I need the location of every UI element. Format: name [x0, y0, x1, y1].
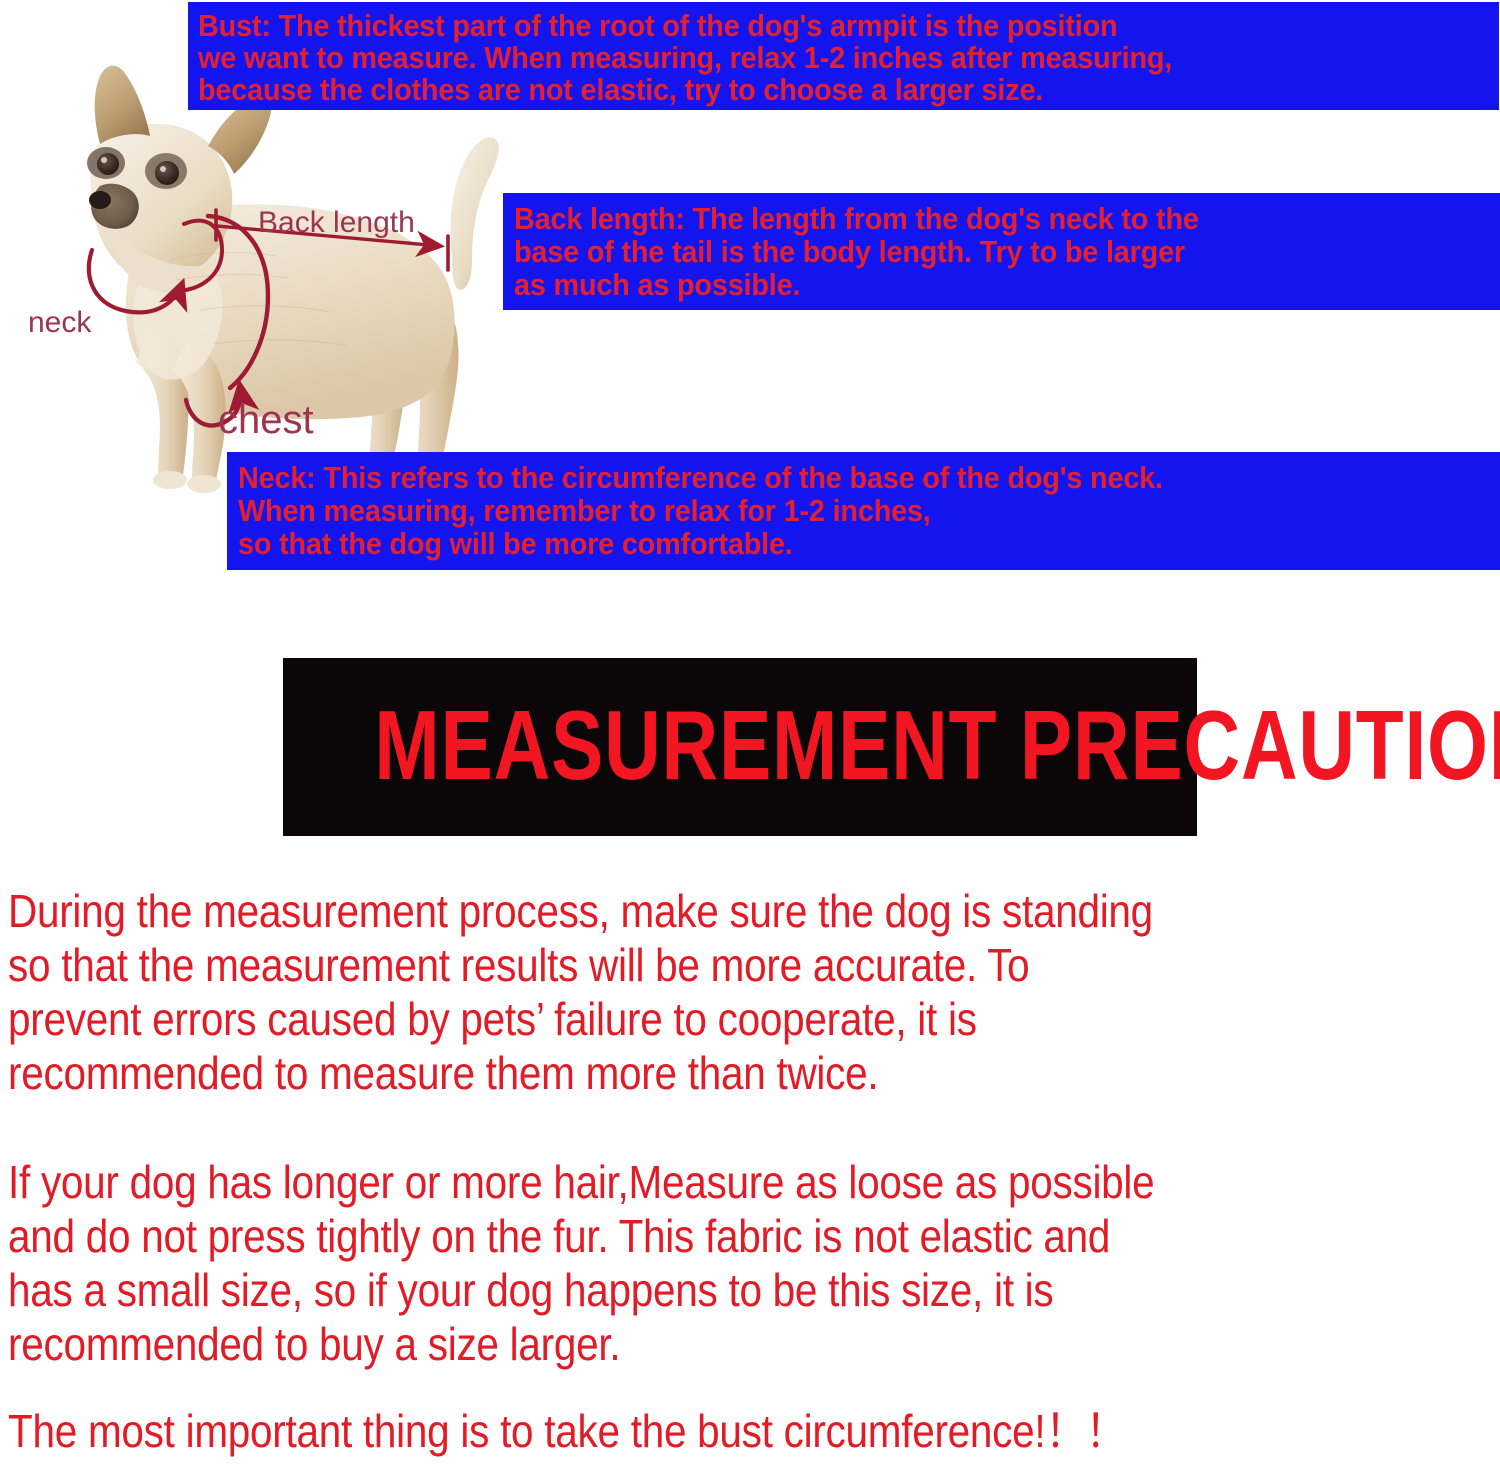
precaution-paragraph-1-line-4: recommended to measure them more than tw…: [8, 1046, 1153, 1100]
precaution-paragraph-3: The most important thing is to take the …: [8, 1404, 1278, 1458]
precaution-paragraph-2-line-3: has a small size, so if your dog happens…: [8, 1263, 1154, 1317]
callout-bust-line-2: we want to measure. When measuring, rela…: [198, 42, 1408, 74]
callout-bust-line-3: because the clothes are not elastic, try…: [198, 74, 1408, 106]
precaution-paragraph-1-line-3: prevent errors caused by pets’ failure t…: [8, 992, 1153, 1046]
precaution-paragraph-3-line-1: The most important thing is to take the …: [8, 1404, 1126, 1458]
callout-back-length-line-2: base of the tail is the body length. Try…: [514, 235, 1431, 268]
callout-neck-line-2: When measuring, remember to relax for 1-…: [238, 494, 1412, 527]
banner-title: MEASUREMENT PRECAUTIONS: [374, 696, 1105, 794]
callout-back-length-line-1: Back length: The length from the dog's n…: [514, 202, 1431, 235]
precaution-paragraph-2-line-1: If your dog has longer or more hair,Meas…: [8, 1155, 1154, 1209]
label-chest: chest: [218, 398, 314, 443]
label-back-length: Back length: [258, 206, 415, 240]
measurement-precautions-banner: MEASUREMENT PRECAUTIONS: [283, 658, 1197, 836]
callout-neck-line-1: Neck: This refers to the circumference o…: [238, 461, 1412, 494]
precaution-paragraph-2-line-2: and do not press tightly on the fur. Thi…: [8, 1209, 1154, 1263]
callout-neck-line-3: so that the dog will be more comfortable…: [238, 527, 1412, 560]
callout-bust-line-1: Bust: The thickest part of the root of t…: [198, 10, 1408, 42]
callout-bust: Bust: The thickest part of the root of t…: [188, 2, 1499, 110]
callout-back-length: Back length: The length from the dog's n…: [503, 193, 1500, 310]
precaution-paragraph-1-line-1: During the measurement process, make sur…: [8, 884, 1153, 938]
precaution-paragraph-2: If your dog has longer or more hair,Meas…: [8, 1155, 1311, 1371]
precaution-paragraph-1: During the measurement process, make sur…: [8, 884, 1309, 1100]
label-neck: neck: [28, 306, 91, 340]
callout-neck: Neck: This refers to the circumference o…: [227, 452, 1500, 570]
precaution-paragraph-2-line-4: recommended to buy a size larger.: [8, 1317, 1154, 1371]
measurement-guide-page: Back length neck chest Bust: The thickes…: [0, 0, 1500, 1484]
precaution-paragraph-1-line-2: so that the measurement results will be …: [8, 938, 1153, 992]
callout-back-length-line-3: as much as possible.: [514, 268, 1431, 301]
